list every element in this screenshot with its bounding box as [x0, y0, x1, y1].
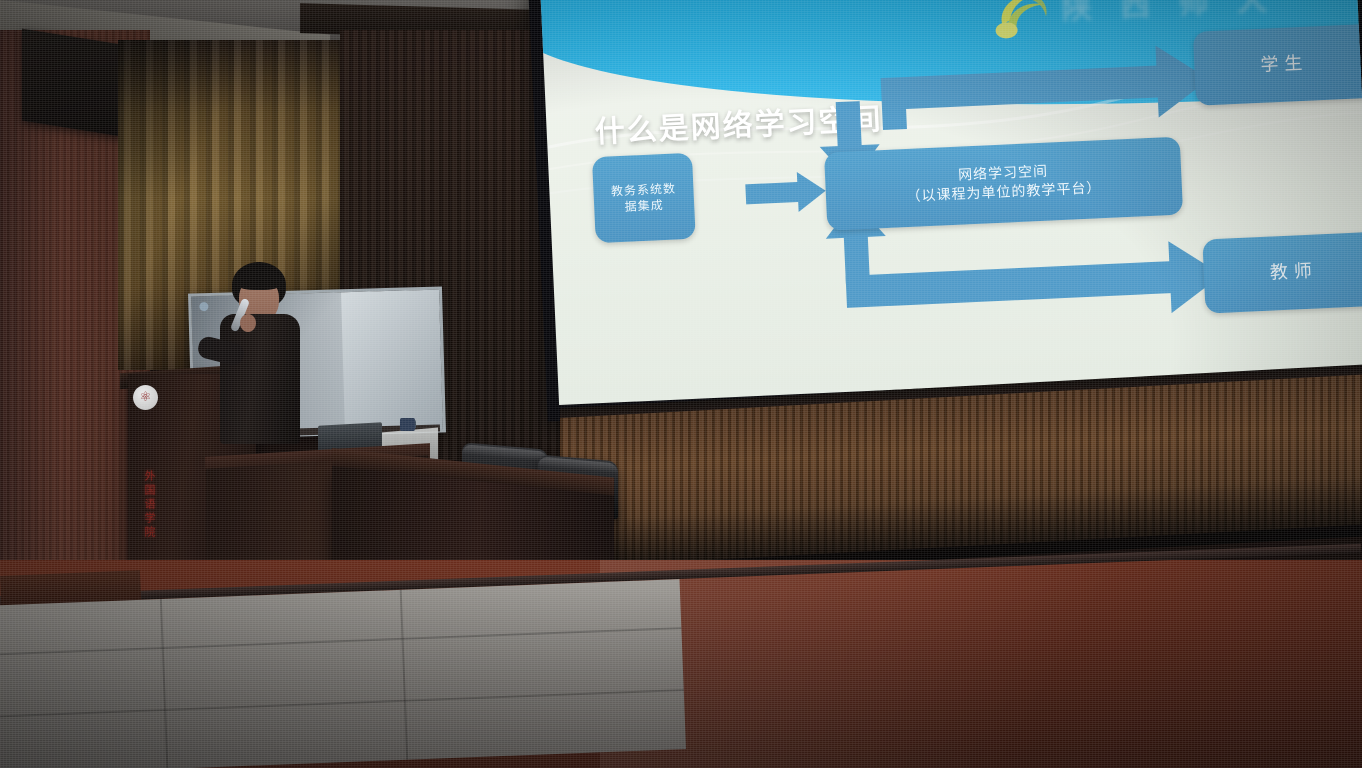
presentation-slide: 陕 西 师 大 什么是网络学习空间 — [541, 0, 1362, 405]
node-teacher: 教师 — [1202, 232, 1362, 314]
floor-reflection — [600, 560, 1362, 768]
podium-vertical-text: 外国语学院 — [141, 470, 157, 540]
node-label: 教务系统数 据集成 — [611, 180, 677, 215]
node-label: 教师 — [1269, 259, 1318, 285]
node-data-integration: 教务系统数 据集成 — [592, 153, 696, 243]
podium-emblem-icon: ⚛ — [133, 385, 158, 410]
projection-screen: 陕 西 师 大 什么是网络学习空间 — [528, 0, 1362, 422]
cup — [400, 418, 415, 431]
lecture-hall-photo: 陕 西 师 大 什么是网络学习空间 — [0, 0, 1362, 768]
arrow-space-to-teacher — [845, 239, 1224, 328]
node-label: 网络学习空间 （以课程为单位的教学平台） — [905, 160, 1102, 207]
node-learning-space: 网络学习空间 （以课程为单位的教学平台） — [824, 137, 1183, 231]
node-label: 学生 — [1260, 52, 1309, 78]
tile-floor — [0, 579, 686, 768]
presenter — [214, 262, 306, 442]
node-student: 学生 — [1193, 24, 1362, 106]
arrow-data-to-space — [745, 171, 827, 215]
